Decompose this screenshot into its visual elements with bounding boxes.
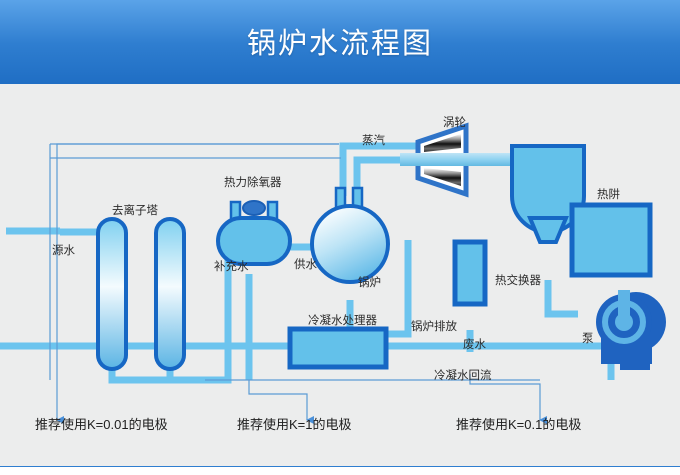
label-boiler-blowdown: 锅炉排放 — [411, 322, 457, 334]
label-deionizer-tower: 去离子塔 — [112, 206, 158, 218]
boiler-vessel — [312, 188, 388, 282]
label-condensate-treater: 冷凝水处理器 — [308, 316, 377, 328]
label-boiler: 锅炉 — [358, 278, 381, 290]
thermal-deaerator-unit — [218, 201, 290, 264]
deionizer-tower-1 — [98, 219, 126, 369]
diagram-canvas: 源水 去离子塔 热力除氧器 补充水 供水 蒸汽 涡轮 锅炉 热阱 热交换器 锅炉… — [0, 84, 680, 466]
page-title: 锅炉水流程图 — [0, 20, 680, 62]
label-heat-exchanger: 热交换器 — [495, 276, 541, 288]
pump-unit — [596, 290, 666, 370]
annotation-electrode-k01: 推荐使用K=0.1的电极 — [456, 418, 581, 431]
hot-well-tank — [572, 205, 650, 275]
leader-line-k1-route — [249, 380, 307, 420]
label-thermal-deaerator: 热力除氧器 — [224, 178, 282, 190]
annotation-electrode-k001: 推荐使用K=0.01的电极 — [35, 418, 168, 431]
label-waste-water: 废水 — [463, 340, 486, 352]
label-makeup-water: 补充水 — [214, 262, 249, 274]
label-steam: 蒸汽 — [362, 136, 385, 148]
label-condensate-return: 冷凝水回流 — [434, 371, 492, 383]
heat-exchanger-unit — [455, 242, 485, 304]
label-turbine: 涡轮 — [443, 118, 466, 130]
pipe-condenser-to-hotwell — [548, 280, 578, 314]
annotation-electrode-k1: 推荐使用K=1的电极 — [237, 418, 352, 431]
label-pump: 泵 — [582, 334, 594, 346]
label-hot-well: 热阱 — [597, 190, 620, 202]
deionizer-tower-2 — [156, 219, 184, 369]
flow-diagram-svg — [0, 84, 680, 466]
label-feed-water: 供水 — [294, 260, 317, 272]
page-header: 锅炉水流程图 — [0, 0, 680, 84]
condensate-treater-unit — [290, 329, 386, 367]
boiler-water-flow-diagram-page: 锅炉水流程图 — [0, 0, 680, 474]
turbine-unit — [400, 126, 512, 194]
label-source-water: 源水 — [52, 246, 75, 258]
